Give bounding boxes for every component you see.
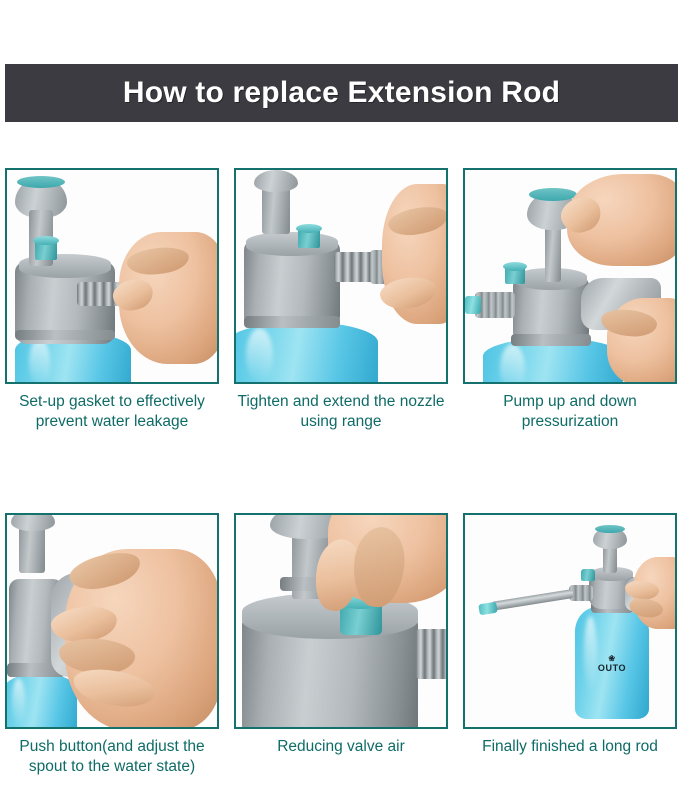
head-collar	[15, 330, 115, 340]
tighten-nozzle-photo	[234, 168, 448, 384]
photo-scene-4	[7, 515, 217, 727]
head-collar	[244, 316, 340, 328]
bottle-logo-text: OUTO	[598, 663, 626, 673]
push-button-photo	[5, 513, 219, 729]
extension-rod	[491, 589, 573, 611]
step-cell-4: Push button(and adjust the spout to the …	[5, 513, 219, 778]
relief-valve-top	[296, 224, 322, 233]
reducing-valve-photo	[234, 513, 448, 729]
head-dome	[246, 232, 338, 256]
step-caption-2: Tighten and extend the nozzle using rang…	[234, 392, 448, 433]
nozzle-tip	[465, 296, 481, 314]
bottle-body	[5, 673, 77, 729]
threaded-outlet	[334, 252, 374, 282]
relief-valve-top	[33, 236, 59, 245]
photo-scene-3	[465, 170, 675, 382]
instruction-infographic: How to replace Extension Rod	[0, 0, 683, 800]
photo-scene-2	[236, 170, 446, 382]
threaded-outlet	[416, 629, 448, 679]
rod-tip	[478, 602, 497, 616]
step-cell-1: Set-up gasket to effectively prevent wat…	[5, 168, 219, 433]
step-caption-1: Set-up gasket to effectively prevent wat…	[5, 392, 219, 433]
bottle-logo: ❀ OUTO	[585, 655, 639, 673]
finished-assembly-photo: ❀ OUTO	[463, 513, 677, 729]
photo-scene-6: ❀ OUTO	[465, 515, 675, 727]
flower-icon: ❀	[585, 655, 639, 663]
pump-knob	[11, 513, 55, 531]
step-caption-5: Reducing valve air	[234, 737, 448, 757]
step-caption-6: Finally finished a long rod	[463, 737, 677, 757]
nozzle-body	[475, 292, 515, 318]
gasket-setup-photo	[5, 168, 219, 384]
step-cell-3: Pump up and down pressurization	[463, 168, 677, 433]
pump-knob-cap	[595, 525, 625, 533]
step-cell-2: Tighten and extend the nozzle using rang…	[234, 168, 448, 433]
bottle-body	[234, 322, 378, 384]
pump-knob-cap	[529, 188, 577, 201]
step-cell-6: ❀ OUTO Finally finished a long rod	[463, 513, 677, 778]
head-collar	[511, 334, 591, 346]
step-cell-5: Reducing valve air	[234, 513, 448, 778]
pump-knob-cap	[17, 176, 65, 188]
pump-neck	[254, 170, 298, 192]
steps-grid: Set-up gasket to effectively prevent wat…	[5, 168, 678, 778]
photo-scene-5	[236, 515, 446, 727]
header-banner: How to replace Extension Rod	[5, 64, 678, 122]
step-caption-4: Push button(and adjust the spout to the …	[5, 737, 219, 778]
pump-shaft	[545, 224, 561, 282]
step-caption-3: Pump up and down pressurization	[463, 392, 677, 433]
photo-scene-1	[7, 170, 217, 382]
page-title: How to replace Extension Rod	[123, 76, 560, 110]
relief-valve-top	[503, 262, 527, 271]
pump-pressurize-photo	[463, 168, 677, 384]
relief-valve	[581, 569, 595, 581]
